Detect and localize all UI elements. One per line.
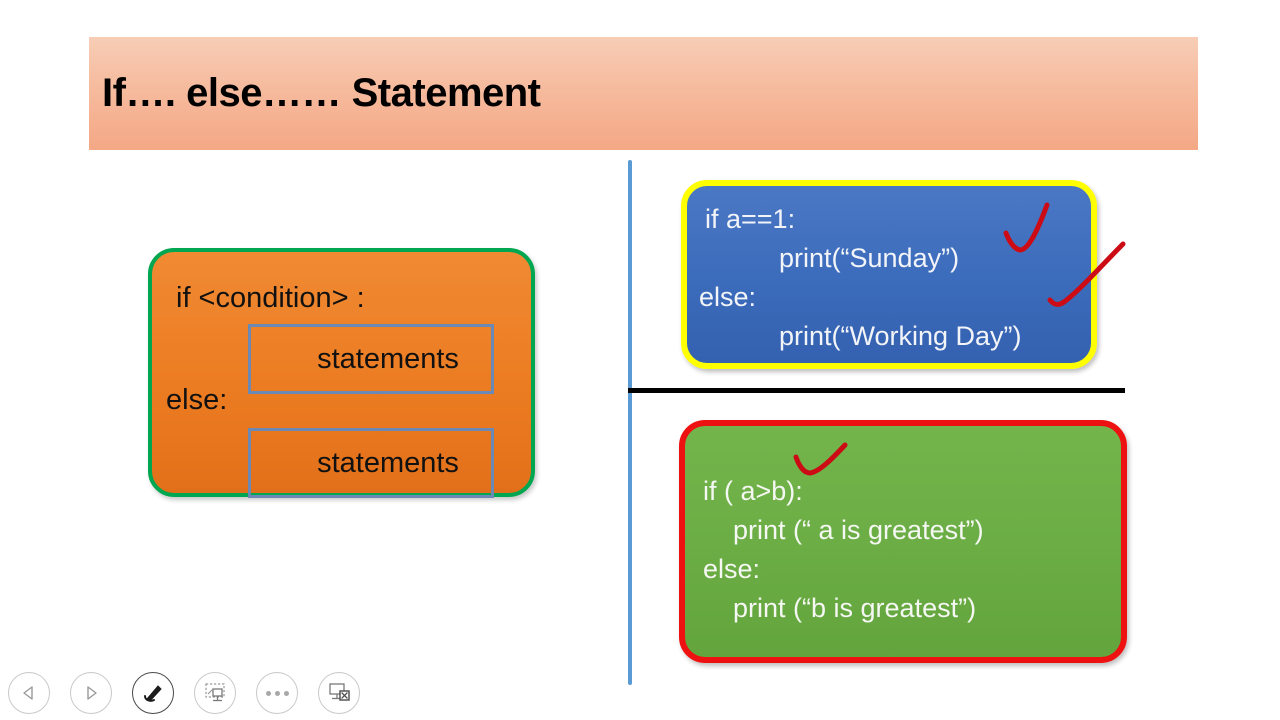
vertical-divider [628,160,632,685]
blue-code-line-2: print(“Sunday”) [779,243,959,274]
end-show-button[interactable] [318,672,360,714]
syntax-else-line: else: [166,384,227,417]
green-code-line-2: print (“ a is greatest”) [733,515,984,546]
syntax-if-line: if <condition> : [176,282,365,315]
pen-icon [141,681,165,705]
slide-canvas: If…. else…… Statement if <condition> : s… [0,0,1280,720]
more-options-button[interactable] [256,672,298,714]
statements-box-else: statements [248,428,494,498]
slide-zoom-icon [203,681,227,705]
statements-box-if: statements [248,324,494,394]
triangle-right-icon [81,683,101,703]
blue-code-line-1: if a==1: [705,204,795,235]
if-else-syntax-box: if <condition> : statements else: statem… [148,248,535,497]
statements-label-else: statements [251,447,491,480]
end-show-icon [327,681,351,705]
sunday-example-box: if a==1: print(“Sunday”) else: print(“Wo… [681,180,1097,369]
green-code-line-1: if ( a>b): [703,476,803,507]
slide-view-button[interactable] [194,672,236,714]
statements-label-if: statements [251,343,491,376]
horizontal-divider [628,388,1125,393]
next-slide-button[interactable] [70,672,112,714]
page-title: If…. else…… Statement [102,71,541,116]
ellipsis-icon [266,691,289,696]
blue-code-line-4: print(“Working Day”) [779,321,1022,352]
triangle-left-icon [19,683,39,703]
presenter-toolbar[interactable] [8,672,360,714]
green-code-line-3: else: [703,554,760,585]
green-code-line-4: print (“b is greatest”) [733,593,976,624]
blue-code-line-3: else: [699,282,756,313]
greatest-example-box: if ( a>b): print (“ a is greatest”) else… [679,420,1127,663]
title-banner: If…. else…… Statement [89,37,1198,150]
previous-slide-button[interactable] [8,672,50,714]
pen-tool-button[interactable] [132,672,174,714]
